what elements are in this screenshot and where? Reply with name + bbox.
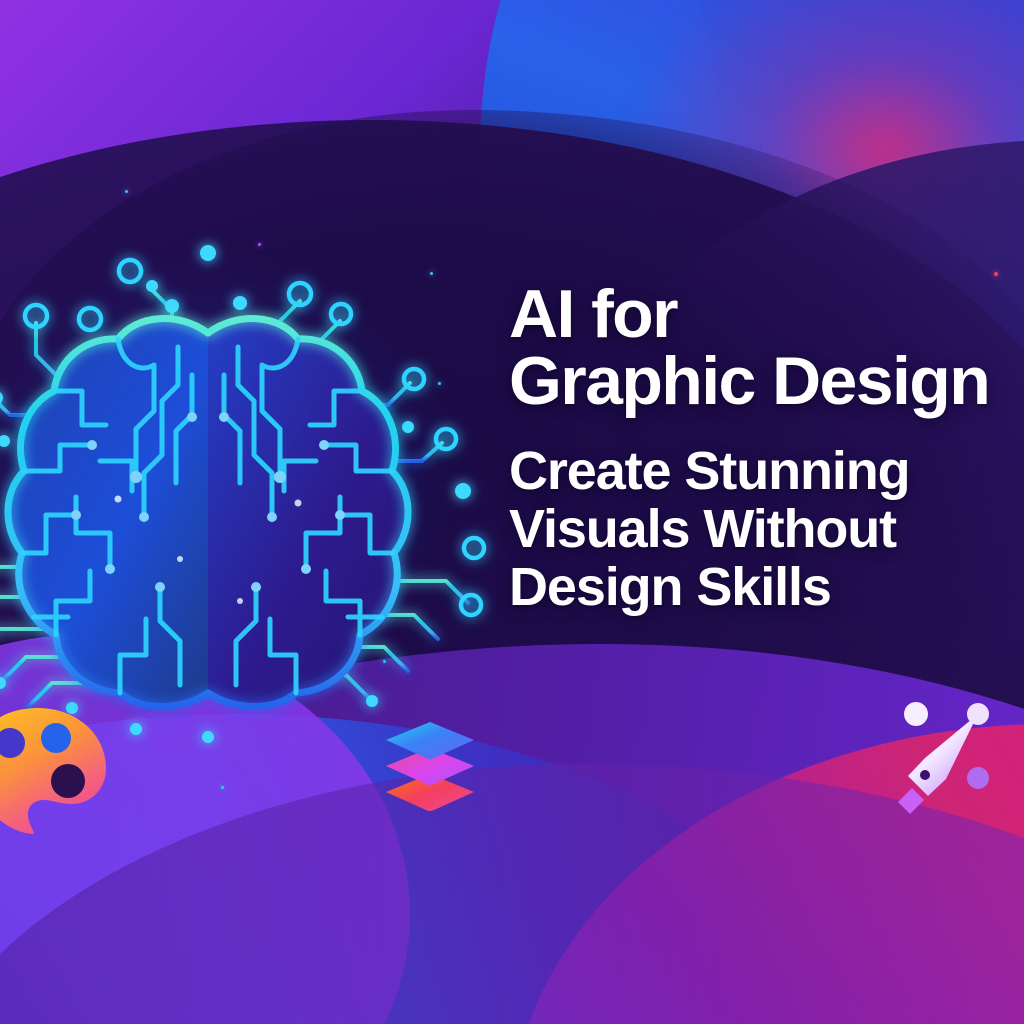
pen-nib-body	[908, 714, 978, 796]
subheadline-line-1: Create Stunning	[509, 442, 1024, 500]
layers-stack	[386, 722, 474, 811]
pen-nib-tail	[898, 788, 924, 814]
layer-top	[386, 722, 474, 759]
page-subtitle: Create Stunning Visuals Without Design S…	[509, 442, 1024, 617]
palette-icon	[0, 700, 120, 840]
pen-anchor-point-bottom	[967, 767, 989, 789]
subheadline-line-2: Visuals Without	[509, 500, 1024, 558]
pen-anchor-point-left	[904, 702, 928, 726]
pen-nib-hole	[920, 770, 930, 780]
page-title: AI forGraphic Design	[509, 281, 1024, 416]
ai-circuit-brain-illustration	[0, 215, 500, 725]
headline-line-2: Graphic Design	[509, 343, 989, 419]
banner-text-block: AI forGraphic Design Create Stunning Vis…	[509, 281, 1024, 617]
palette-thumb-hole	[51, 764, 85, 798]
brain-body	[8, 319, 408, 707]
headline-line-1: AI for	[509, 276, 677, 352]
subheadline-line-3: Design Skills	[509, 558, 1024, 616]
palette-paint-dot-blue	[41, 723, 71, 753]
pen-anchor-point-corner	[967, 703, 989, 725]
pen-tool-icon	[890, 696, 1012, 818]
layers-icon	[380, 716, 480, 816]
ai-graphic-design-banner: AI forGraphic Design Create Stunning Vis…	[0, 0, 1024, 1024]
